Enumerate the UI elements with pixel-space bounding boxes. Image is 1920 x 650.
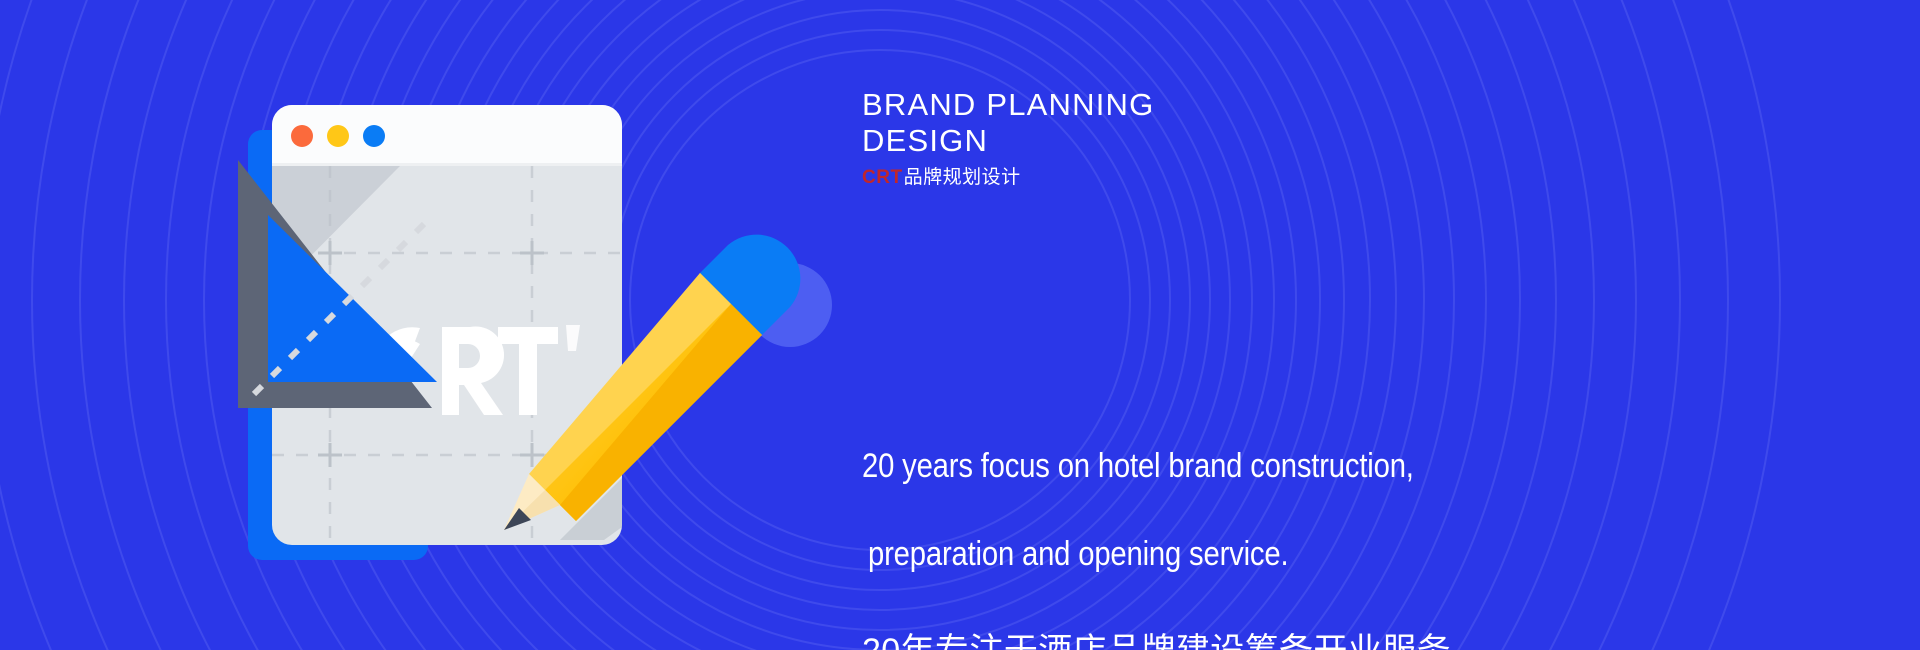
tagline-english-line-2: preparation and opening service.: [862, 532, 1705, 576]
tagline-group: 20 years focus on hotel brand constructi…: [862, 400, 1842, 650]
tagline-chinese: 20年专注于酒店品牌建设筹备开业服务。: [862, 628, 1842, 650]
close-dot: [291, 125, 313, 147]
window-control-dots: [291, 125, 385, 147]
minimize-dot: [327, 125, 349, 147]
brand-design-illustration: [0, 0, 960, 650]
maximize-dot: [363, 125, 385, 147]
heading-group: BRAND PLANNING DESIGN CRT 品牌规划设计: [862, 87, 1502, 190]
banner-copy-block: BRAND PLANNING DESIGN CRT 品牌规划设计 20 year…: [862, 0, 1882, 650]
brand-planning-banner: BRAND PLANNING DESIGN CRT 品牌规划设计 20 year…: [0, 0, 1920, 650]
heading-chinese: 品牌规划设计: [904, 166, 1021, 190]
tagline-english: 20 years focus on hotel brand constructi…: [862, 400, 1705, 620]
heading-brand-mark: CRT: [862, 166, 903, 190]
heading-chinese-row: CRT 品牌规划设计: [862, 166, 1502, 190]
tagline-english-line-1: 20 years focus on hotel brand constructi…: [862, 444, 1705, 488]
heading-english: BRAND PLANNING DESIGN: [862, 87, 1502, 159]
